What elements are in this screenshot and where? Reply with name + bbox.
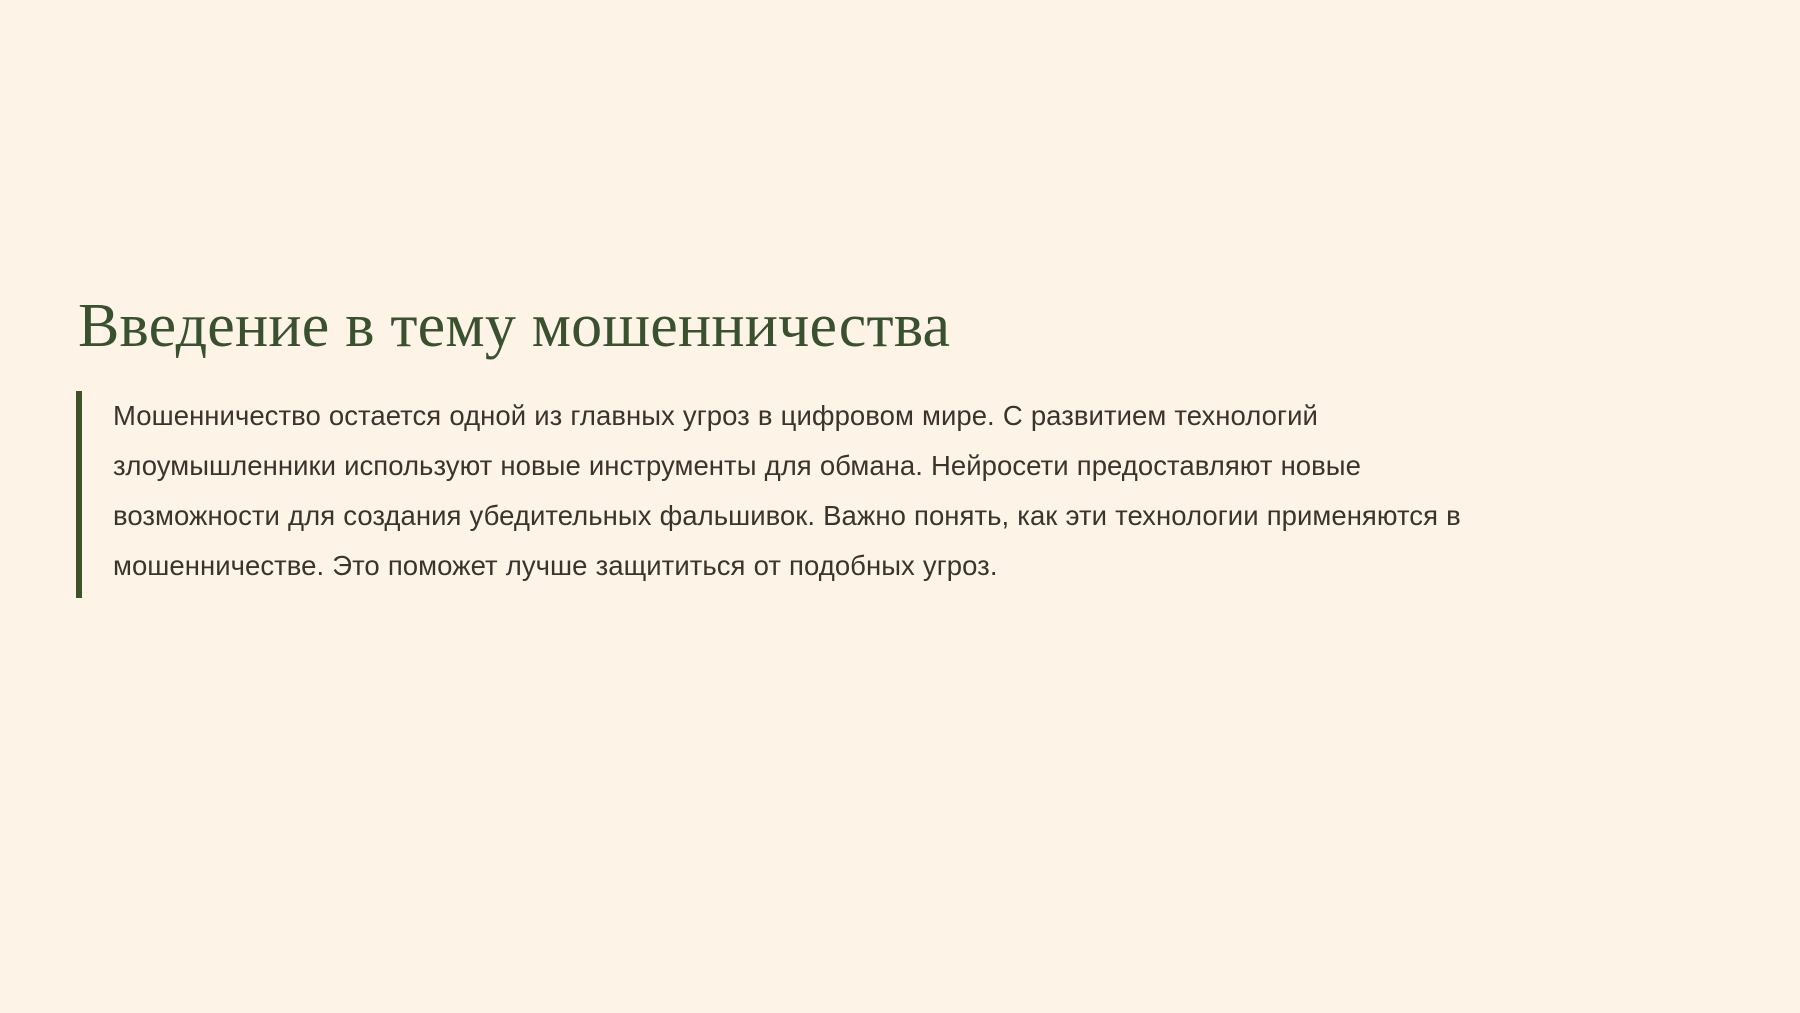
body-paragraph: Мошенничество остается одной из главных …: [113, 391, 1491, 591]
slide-content: Введение в тему мошенничества Мошенничес…: [76, 290, 1496, 598]
slide-canvas: Введение в тему мошенничества Мошенничес…: [0, 0, 1800, 1013]
accent-bar: [76, 391, 82, 598]
page-title: Введение в тему мошенничества: [76, 290, 1496, 363]
body-block: Мошенничество остается одной из главных …: [76, 391, 1496, 598]
